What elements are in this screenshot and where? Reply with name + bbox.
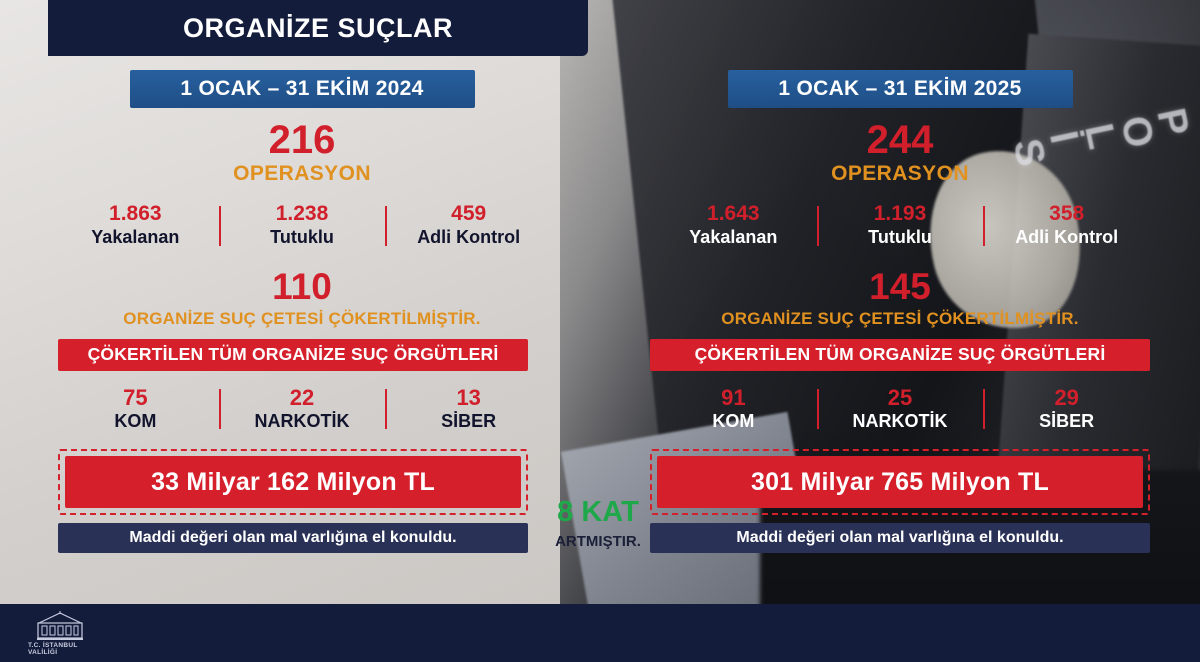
- stat-label: Yakalanan: [654, 226, 813, 249]
- stat-cell: 459 Adli Kontrol: [385, 202, 552, 250]
- operations-label-2024: OPERASYON: [52, 162, 552, 186]
- stat-cell: 1.238 Tutuklu: [219, 202, 386, 250]
- stat-cell: 22 NARKOTİK: [219, 385, 386, 434]
- money-caption-2025: Maddi değeri olan mal varlığına el konul…: [650, 523, 1150, 553]
- operations-label-2025: OPERASYON: [650, 162, 1150, 186]
- stat-cell: 1.643 Yakalanan: [650, 202, 817, 250]
- stat-label: KOM: [654, 410, 813, 433]
- units-row-2025: 91 KOM 25 NARKOTİK 29 SİBER: [650, 385, 1150, 434]
- increase-caption: ARTMIŞTIR.: [538, 533, 658, 550]
- crest-label: T.C. İSTANBUL VALİLİĞİ: [28, 642, 92, 656]
- stat-cell: 13 SİBER: [385, 385, 552, 434]
- period-badge-2025: 1 OCAK – 31 EKİM 2025: [728, 70, 1073, 108]
- money-block-2024: 33 Milyar 162 Milyon TL Maddi değeri ola…: [52, 449, 552, 553]
- increase-value: 8 KAT: [538, 498, 658, 527]
- gangs-value-2025: 145: [650, 268, 1150, 305]
- period-badge-2024: 1 OCAK – 31 EKİM 2024: [130, 70, 475, 108]
- column-2024: 1 OCAK – 31 EKİM 2024 216 OPERASYON 1.86…: [52, 70, 552, 553]
- stat-value: 358: [987, 202, 1146, 226]
- operations-value-2024: 216: [52, 120, 552, 160]
- page-title: ORGANİZE SUÇLAR: [183, 13, 453, 44]
- stat-value: 91: [654, 385, 813, 410]
- suspects-row-2025: 1.643 Yakalanan 1.193 Tutuklu 358 Adli K…: [650, 202, 1150, 250]
- gangs-value-2024: 110: [52, 268, 552, 305]
- stat-cell: 358 Adli Kontrol: [983, 202, 1150, 250]
- footer-bar: T.C. İSTANBUL VALİLİĞİ: [0, 604, 1200, 662]
- stat-label: NARKOTİK: [223, 410, 382, 433]
- stat-cell: 1.863 Yakalanan: [52, 202, 219, 250]
- stat-label: Yakalanan: [56, 226, 215, 249]
- gangs-label-2025: ORGANİZE SUÇ ÇETESİ ÇÖKERTİLMİŞTİR.: [650, 309, 1150, 329]
- units-bar-2024: ÇÖKERTİLEN TÜM ORGANİZE SUÇ ÖRGÜTLERİ: [58, 339, 528, 371]
- units-row-2024: 75 KOM 22 NARKOTİK 13 SİBER: [52, 385, 552, 434]
- stat-label: Adli Kontrol: [389, 226, 548, 249]
- stat-value: 29: [987, 385, 1146, 410]
- crest: T.C. İSTANBUL VALİLİĞİ: [28, 610, 92, 656]
- money-caption-2024: Maddi değeri olan mal varlığına el konul…: [58, 523, 528, 553]
- units-bar-2025: ÇÖKERTİLEN TÜM ORGANİZE SUÇ ÖRGÜTLERİ: [650, 339, 1150, 371]
- money-box: 33 Milyar 162 Milyon TL: [58, 449, 528, 515]
- gangs-label-2024: ORGANİZE SUÇ ÇETESİ ÇÖKERTİLMİŞTİR.: [52, 309, 552, 329]
- suspects-row-2024: 1.863 Yakalanan 1.238 Tutuklu 459 Adli K…: [52, 202, 552, 250]
- page-title-bar: ORGANİZE SUÇLAR: [48, 0, 588, 56]
- stat-label: Tutuklu: [223, 226, 382, 249]
- money-value-2024: 33 Milyar 162 Milyon TL: [65, 456, 521, 508]
- stat-value: 459: [389, 202, 548, 226]
- stat-cell: 29 SİBER: [983, 385, 1150, 434]
- stat-value: 1.643: [654, 202, 813, 226]
- column-2025: 1 OCAK – 31 EKİM 2025 244 OPERASYON 1.64…: [650, 70, 1150, 553]
- stat-value: 25: [821, 385, 980, 410]
- stat-label: SİBER: [389, 410, 548, 433]
- money-value-2025: 301 Milyar 765 Milyon TL: [657, 456, 1143, 508]
- stat-label: SİBER: [987, 410, 1146, 433]
- stat-label: NARKOTİK: [821, 410, 980, 433]
- stat-cell: 25 NARKOTİK: [817, 385, 984, 434]
- stat-value: 75: [56, 385, 215, 410]
- stat-label: Tutuklu: [821, 226, 980, 249]
- stat-value: 13: [389, 385, 548, 410]
- stat-value: 1.238: [223, 202, 382, 226]
- stat-cell: 1.193 Tutuklu: [817, 202, 984, 250]
- operations-value-2025: 244: [650, 120, 1150, 160]
- money-box: 301 Milyar 765 Milyon TL: [650, 449, 1150, 515]
- increase-callout: 8 KAT ARTMIŞTIR.: [538, 498, 658, 550]
- money-block-2025: 301 Milyar 765 Milyon TL Maddi değeri ol…: [650, 449, 1150, 553]
- stat-label: KOM: [56, 410, 215, 433]
- stat-value: 1.193: [821, 202, 980, 226]
- stat-label: Adli Kontrol: [987, 226, 1146, 249]
- stat-cell: 75 KOM: [52, 385, 219, 434]
- stat-value: 1.863: [56, 202, 215, 226]
- stat-cell: 91 KOM: [650, 385, 817, 434]
- stat-value: 22: [223, 385, 382, 410]
- government-building-icon: [37, 611, 83, 641]
